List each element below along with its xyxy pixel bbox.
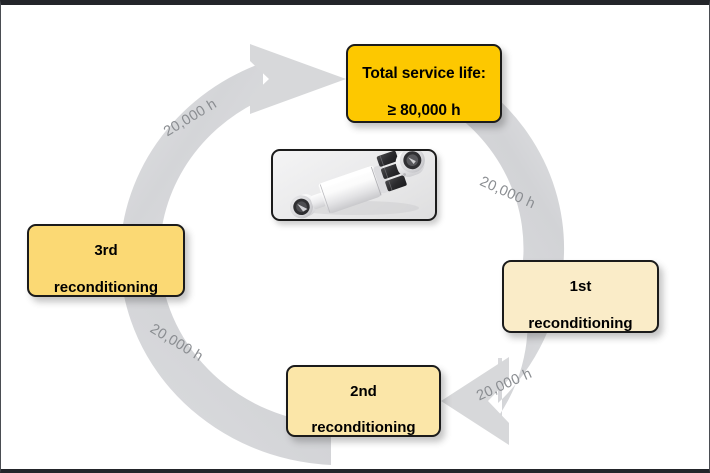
node-third-line1: 3rd	[94, 242, 117, 259]
node-total-line1: Total service life:	[362, 65, 486, 82]
node-third-reconditioning: 3rd reconditioning	[27, 224, 185, 297]
product-image-card	[271, 149, 437, 221]
diagram-stage: 20,000 h 20,000 h 20,000 h 20,000 h Tota…	[1, 5, 709, 469]
node-second-reconditioning-label: 2nd reconditioning	[305, 364, 421, 437]
node-second-line2: reconditioning	[311, 419, 415, 436]
node-total-service-life: Total service life: ≥ 80,000 h	[346, 44, 502, 123]
node-total-service-life-label: Total service life: ≥ 80,000 h	[356, 46, 492, 122]
node-total-line2: ≥ 80,000 h	[388, 102, 461, 119]
node-first-line1: 1st	[570, 278, 592, 295]
diagram-figure: 20,000 h 20,000 h 20,000 h 20,000 h Tota…	[0, 0, 710, 473]
node-second-reconditioning: 2nd reconditioning	[286, 365, 441, 437]
node-third-line2: reconditioning	[54, 279, 158, 296]
node-second-line1: 2nd	[350, 383, 377, 400]
arrowhead-to-total	[250, 44, 346, 114]
hydraulic-cylinder-icon	[273, 151, 437, 221]
node-first-reconditioning-label: 1st reconditioning	[522, 260, 638, 333]
node-third-reconditioning-label: 3rd reconditioning	[48, 224, 164, 297]
node-first-reconditioning: 1st reconditioning	[502, 260, 659, 333]
node-first-line2: reconditioning	[528, 315, 632, 332]
